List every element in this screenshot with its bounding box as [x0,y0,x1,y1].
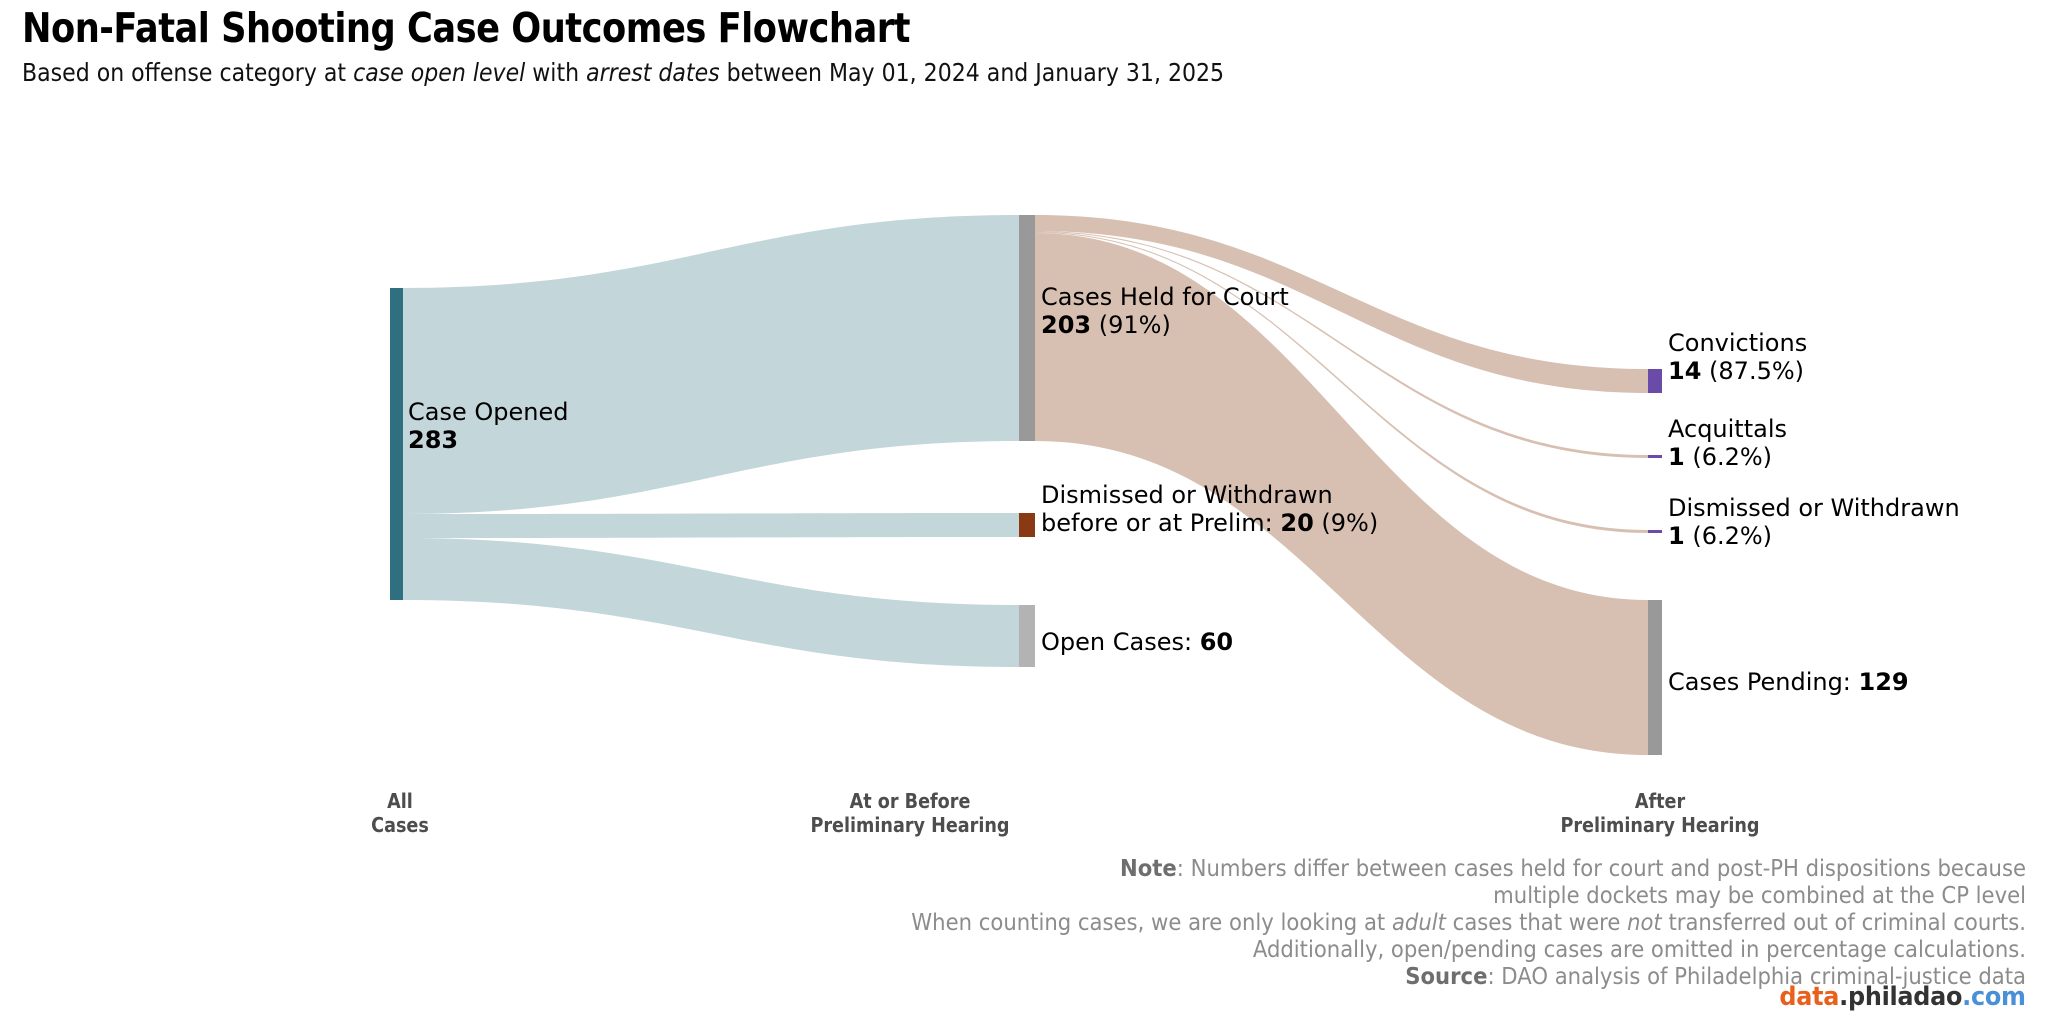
note-line-3: When counting cases, we are only looking… [664,910,2026,937]
node-label-dismissed_post: Dismissed or Withdrawn1 (6.2%) [1668,494,1960,550]
column-label-line2: Preliminary Hearing [725,814,1095,838]
column-label-line1: After [1475,790,1845,814]
column-label-line2: Cases [277,814,523,838]
column-label-line1: All [277,790,523,814]
column-label-line2: Preliminary Hearing [1475,814,1845,838]
note-line-4: Additionally, open/pending cases are omi… [664,937,2026,964]
sankey-node-dismissed_prelim[interactable] [1019,513,1035,537]
note-emphasis-not: not [1627,910,1662,936]
sankey-link-l_opened_dismissed[interactable] [403,513,1019,538]
note-text-3b: cases that were [1446,910,1627,936]
node-label-convictions: Convictions14 (87.5%) [1668,329,1807,385]
node-label-dismissed_prelim: Dismissed or Withdrawnbefore or at Preli… [1041,481,1378,537]
chart-canvas: Non-Fatal Shooting Case Outcomes Flowcha… [0,0,2048,1024]
note-label: Note [1120,856,1177,882]
sankey-node-cases_pending[interactable] [1648,600,1662,755]
brand-part-philadao: .philadao [1839,982,1962,1012]
column-label-all-cases: All Cases [277,790,523,837]
sankey-link-l_opened_held[interactable] [403,215,1019,514]
brand-part-data: data [1780,982,1840,1012]
note-line-2: multiple dockets may be combined at the … [664,883,2026,910]
sankey-node-convictions[interactable] [1648,369,1662,393]
column-label-after-ph: After Preliminary Hearing [1475,790,1845,837]
node-label-acquittals: Acquittals1 (6.2%) [1668,415,1787,471]
sankey-node-acquittals[interactable] [1648,455,1662,458]
footnotes: Note: Numbers differ between cases held … [664,856,2026,991]
column-label-line1: At or Before [725,790,1095,814]
node-label-open_cases: Open Cases: 60 [1041,628,1233,656]
sankey-node-case_opened[interactable] [390,288,403,600]
sankey-node-held_for_court[interactable] [1019,215,1035,441]
sankey-link-l_opened_open[interactable] [403,538,1019,667]
note-text-1: : Numbers differ between cases held for … [1177,856,2026,882]
brand-part-com: .com [1962,982,2026,1012]
brand-watermark[interactable]: data.philadao.com [1780,982,2026,1012]
source-label: Source [1405,964,1487,990]
node-label-cases_pending: Cases Pending: 129 [1668,668,1909,696]
column-label-at-or-before-ph: At or Before Preliminary Hearing [725,790,1095,837]
sankey-node-dismissed_post[interactable] [1648,530,1662,533]
note-text-3a: When counting cases, we are only looking… [911,910,1392,936]
note-line-1: Note: Numbers differ between cases held … [664,856,2026,883]
note-text-3c: transferred out of criminal courts. [1662,910,2026,936]
note-emphasis-adult: adult [1392,910,1446,936]
sankey-node-open_cases[interactable] [1019,605,1035,667]
